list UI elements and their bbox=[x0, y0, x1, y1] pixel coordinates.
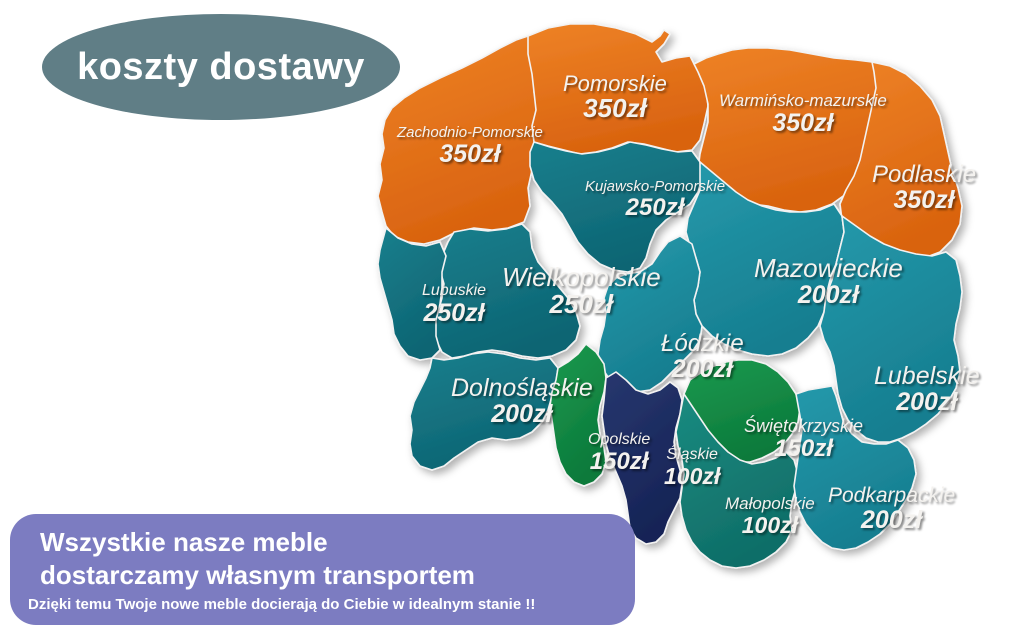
promo-subline: Dzięki temu Twoje nowe meble docierają d… bbox=[28, 596, 535, 613]
title-badge-text: koszty dostawy bbox=[77, 46, 365, 89]
region-dolnoslaskie[interactable] bbox=[410, 352, 558, 470]
promo-banner: Wszystkie nasze meble dostarczamy własny… bbox=[10, 514, 635, 625]
region-wielkopolskie[interactable] bbox=[434, 224, 580, 358]
promo-line-1: Wszystkie nasze meble bbox=[40, 527, 328, 558]
promo-line-2: dostarczamy własnym transportem bbox=[40, 560, 475, 591]
delivery-cost-map-page: Zachodnio-Pomorskie350złPomorskie350złWa… bbox=[0, 0, 1026, 640]
region-zachodniopomorskie[interactable] bbox=[378, 36, 538, 244]
region-pomorskie[interactable] bbox=[528, 24, 708, 154]
region-lubuskie[interactable] bbox=[378, 228, 446, 360]
region-opolskie[interactable] bbox=[550, 344, 606, 486]
title-badge: koszty dostawy bbox=[42, 14, 400, 120]
